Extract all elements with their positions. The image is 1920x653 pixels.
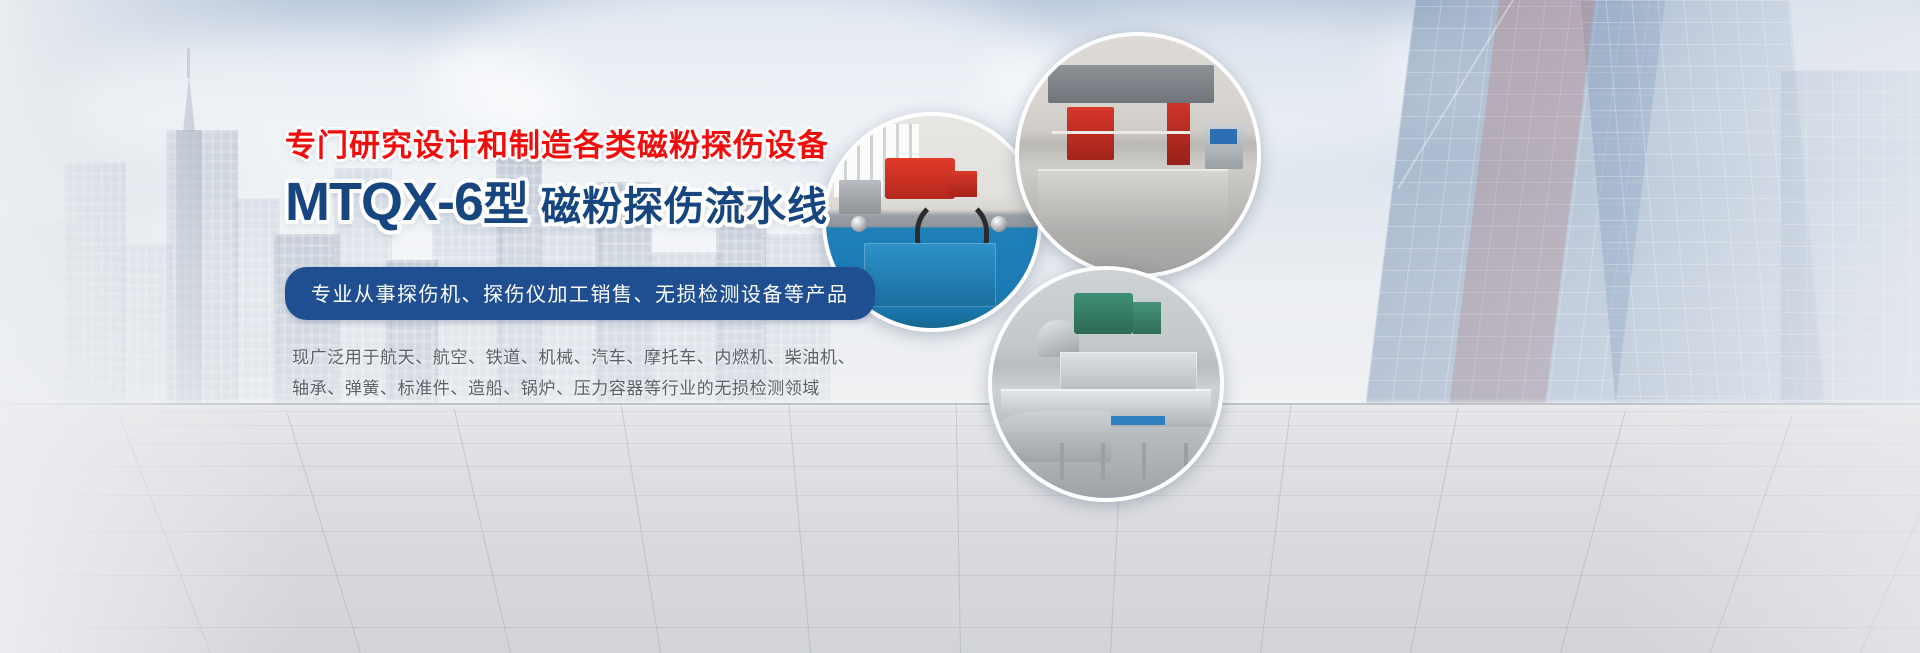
- description-line-1: 现广泛用于航天、航空、铁道、机械、汽车、摩托车、内燃机、柴油机、: [292, 342, 985, 373]
- description: 现广泛用于航天、航空、铁道、机械、汽车、摩托车、内燃机、柴油机、 轴承、弹簧、标…: [292, 342, 985, 404]
- services-pill[interactable]: 专业从事探伤机、探伤仪加工销售、无损检测设备等产品: [285, 267, 875, 320]
- headline-red: 专门研究设计和制造各类磁粉探伤设备: [285, 126, 985, 166]
- tile-columns: [0, 403, 1920, 653]
- model-product: 磁粉探伤流水线: [541, 185, 828, 229]
- hero-banner: 专门研究设计和制造各类磁粉探伤设备 MTQX-6型磁粉探伤流水线 专业从事探伤机…: [0, 0, 1920, 653]
- city-skyline-right: [1220, 0, 1920, 470]
- spire-top: [183, 76, 195, 132]
- photo-inspection-production-line-conveyor: [988, 266, 1224, 502]
- banner-copy: 专门研究设计和制造各类磁粉探伤设备 MTQX-6型磁粉探伤流水线 专业从事探伤机…: [285, 126, 985, 404]
- spire-tower: [176, 130, 202, 430]
- description-line-2: 轴承、弹簧、标准件、造船、锅炉、压力容器等行业的无损检测领域: [292, 373, 985, 404]
- antenna: [187, 48, 190, 78]
- plaza-ground: [0, 403, 1920, 653]
- model-suffix: 型: [483, 178, 529, 230]
- model-code: MTQX-6型: [285, 172, 529, 232]
- tile-rows: [0, 403, 1920, 653]
- model-code-text: MTQX-6: [285, 172, 483, 232]
- headline-blue: MTQX-6型磁粉探伤流水线: [285, 173, 985, 245]
- photo-inspection-workstation-cabinet: [1015, 32, 1261, 278]
